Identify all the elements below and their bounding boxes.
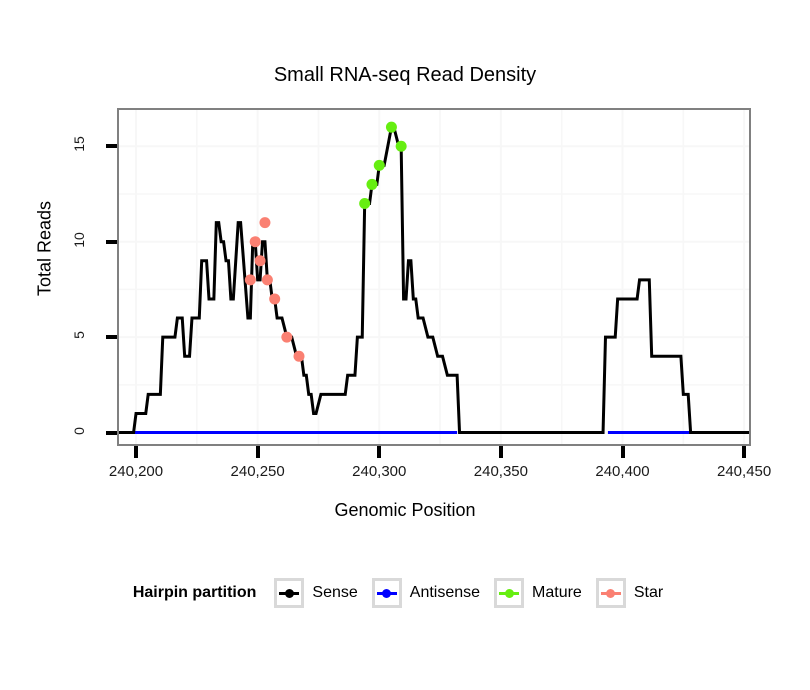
legend-entry-antisense[interactable]: Antisense [372,578,480,608]
y-axis-tick [106,144,117,148]
y-axis-tick [106,431,117,435]
y-axis-title: Total Reads [35,149,56,349]
x-axis-tick [621,446,625,458]
page-title: Small RNA-seq Read Density [0,64,810,87]
chart-figure: Small RNA-seq Read Density Total Reads G… [0,0,810,690]
legend-key-mature-icon [494,578,524,608]
x-axis-tick-label: 240,200 [81,463,191,480]
legend-key-star-icon [596,578,626,608]
x-axis-tick [256,446,260,458]
star-marker [294,351,305,362]
star-marker [250,236,261,247]
x-axis-tick [742,446,746,458]
legend: Hairpin partition SenseAntisenseMatureSt… [0,578,810,608]
legend-label: Antisense [410,584,480,602]
y-axis-tick-label: 0 [59,423,99,439]
star-marker [281,332,292,343]
mature-marker [366,179,377,190]
mature-marker [359,198,370,209]
legend-label: Mature [532,584,582,602]
y-axis-tick-label: 15 [59,136,99,152]
legend-dot-icon [606,589,615,598]
sense-trace [119,127,749,432]
star-marker [245,274,256,285]
x-axis-tick-label: 240,250 [203,463,313,480]
x-axis-tick [377,446,381,458]
y-axis-tick-label: 5 [59,327,99,343]
x-axis-title: Genomic Position [0,500,810,521]
legend-entry-star[interactable]: Star [596,578,663,608]
mature-marker [386,122,397,133]
legend-label: Sense [312,584,357,602]
star-marker [269,293,280,304]
plot-canvas [119,110,749,444]
legend-key-antisense-icon [372,578,402,608]
y-axis-tick [106,335,117,339]
legend-label: Star [634,584,663,602]
x-axis-tick-label: 240,450 [689,463,799,480]
x-axis-tick [499,446,503,458]
legend-dot-icon [505,589,514,598]
plot-panel [117,108,751,446]
legend-entry-mature[interactable]: Mature [494,578,582,608]
x-axis-tick-label: 240,400 [568,463,678,480]
mature-marker [374,160,385,171]
legend-entry-sense[interactable]: Sense [274,578,357,608]
mature-marker [396,141,407,152]
legend-title: Hairpin partition [133,584,257,602]
y-axis-tick-label: 10 [59,232,99,248]
x-axis-tick-label: 240,350 [446,463,556,480]
legend-key-sense-icon [274,578,304,608]
legend-dot-icon [382,589,391,598]
legend-entries: SenseAntisenseMatureStar [274,578,677,608]
star-marker [255,255,266,266]
x-axis-tick [134,446,138,458]
star-marker [259,217,270,228]
star-marker [262,274,273,285]
y-axis-tick [106,240,117,244]
x-axis-tick-label: 240,300 [324,463,434,480]
legend-dot-icon [285,589,294,598]
